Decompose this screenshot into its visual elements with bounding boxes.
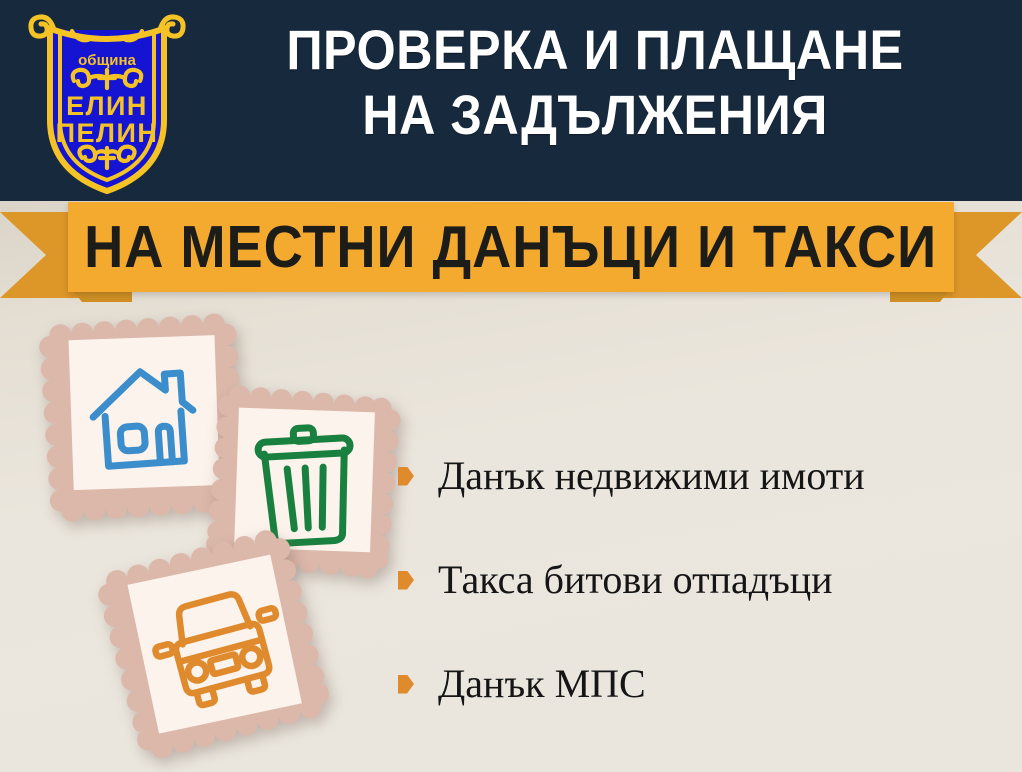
list-item[interactable]: Данък недвижими имоти (398, 424, 1018, 528)
list-item-label: Такса битови отпадъци (438, 560, 833, 600)
page-title-line-1: ПРОВЕРКА И ПЛАЩАНЕ (222, 18, 969, 83)
page-title-line-2: НА ЗАДЪЛЖЕНИЯ (222, 83, 969, 148)
logo-name-line-2: ПЕЛИН (56, 118, 159, 148)
ribbon-label: НА МЕСТНИ ДАНЪЦИ И ТАКСИ (85, 218, 938, 277)
list-item[interactable]: Данък МПС (398, 632, 1018, 736)
arrow-bullet-icon (398, 675, 414, 694)
logo-name-line-1: ЕЛИН (66, 91, 148, 121)
arrow-bullet-icon (398, 571, 414, 590)
poster-root: ПРОВЕРКА И ПЛАЩАНЕ НА ЗАДЪЛЖЕНИЯ община (0, 0, 1022, 772)
ribbon-main-panel: НА МЕСТНИ ДАНЪЦИ И ТАКСИ (68, 202, 954, 292)
page-title: ПРОВЕРКА И ПЛАЩАНЕ НА ЗАДЪЛЖЕНИЯ (222, 18, 969, 148)
list-item-label: Данък МПС (438, 664, 646, 704)
logo-top-text: община (78, 52, 136, 69)
list-item-label: Данък недвижими имоти (438, 456, 865, 496)
list-item[interactable]: Такса битови отпадъци (398, 528, 1018, 632)
stamp-card-vehicle (86, 528, 346, 772)
tax-type-list: Данък недвижими имоти Такса битови отпад… (398, 424, 1018, 736)
ribbon-banner: НА МЕСТНИ ДАНЪЦИ И ТАКСИ (0, 196, 1022, 306)
arrow-bullet-icon (398, 467, 414, 486)
coat-of-arms-logo: община ЕЛИН ПЕЛИН (26, 8, 188, 194)
